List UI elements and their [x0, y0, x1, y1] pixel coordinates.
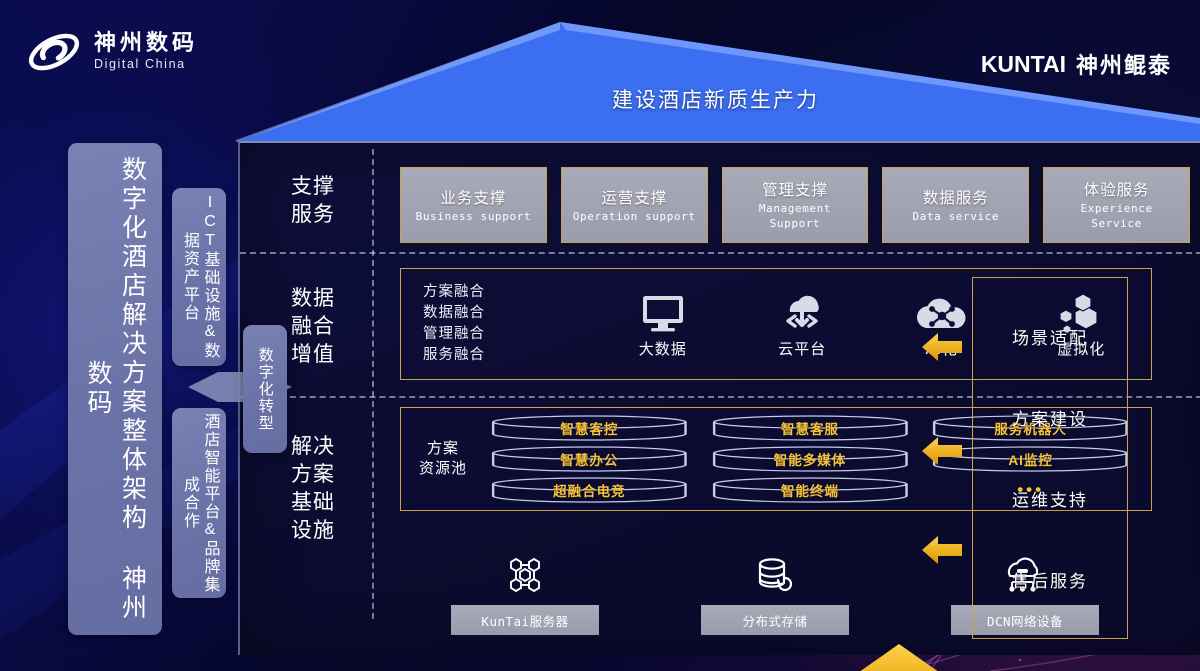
- swirl-logo-icon: [26, 26, 82, 78]
- monitor-icon: [639, 290, 687, 334]
- database-storage-icon: [754, 555, 796, 597]
- infrastructure-card[interactable]: 分布式存储: [701, 605, 849, 635]
- support-card[interactable]: 运营支撑 Operation support: [561, 167, 708, 243]
- row-label-support: 支撑 服务: [258, 173, 368, 229]
- ict-panel[interactable]: ICT基础设施&数据资产平台: [172, 188, 226, 366]
- infrastructure-card[interactable]: KunTai服务器: [451, 605, 599, 635]
- service-item[interactable]: 售后服务: [1012, 567, 1088, 592]
- roof-title: 建设酒店新质生产力: [612, 84, 819, 114]
- support-card-cn: 体验服务: [1084, 178, 1150, 200]
- resource-pool-item[interactable]: 智慧办公: [487, 445, 692, 473]
- support-card-en: Operation support: [573, 210, 696, 225]
- support-card-en: Data service: [912, 210, 999, 225]
- support-card-cn: 运营支撑: [601, 186, 667, 208]
- digital-china-logo: 神州数码 Digital China: [26, 26, 198, 78]
- resource-pool-item[interactable]: 智慧客控: [487, 414, 692, 442]
- fusion-list-item: 服务融合: [423, 346, 593, 365]
- server-cluster-icon: [503, 555, 547, 597]
- fusion-list: 方案融合 数据融合 管理融合 服务融合: [401, 283, 593, 366]
- cloud-arrows-icon: [776, 290, 828, 334]
- infrastructure-item[interactable]: KunTai服务器: [400, 539, 650, 635]
- up-arrow-icon: [842, 644, 956, 671]
- left-arrow-icon-1: [922, 332, 962, 362]
- support-card-cn: 业务支撑: [440, 186, 506, 208]
- fusion-icon-label: 大数据: [639, 338, 687, 359]
- fusion-icon-item[interactable]: 云平台: [752, 290, 852, 359]
- roof-shape: [236, 22, 1200, 142]
- support-card[interactable]: 数据服务 Data service: [882, 167, 1029, 243]
- fusion-list-item: 管理融合: [423, 325, 593, 344]
- fusion-list-item: 数据融合: [423, 304, 593, 323]
- resource-pool-item[interactable]: 智能多媒体: [708, 445, 913, 473]
- resource-pool-item[interactable]: 智能终端: [708, 476, 913, 504]
- service-item[interactable]: 方案建设: [1012, 405, 1088, 430]
- resource-pool-label: 方案 资源池: [401, 439, 485, 480]
- support-card[interactable]: 体验服务 ExperienceService: [1043, 167, 1190, 243]
- main-title-text: 数字化酒店解决方案整体架构 神州数码: [81, 143, 150, 635]
- logo-en-text: Digital China: [94, 55, 198, 74]
- fusion-list-item: 方案融合: [423, 283, 593, 302]
- hotel-platform-panel[interactable]: 酒店智能平台&品牌集成合作: [172, 408, 226, 598]
- service-list-panel: 场景适配 方案建设 运维支持 售后服务: [972, 277, 1128, 639]
- fusion-icon-label: 云平台: [778, 338, 826, 359]
- digital-transformation-text: 数字化转型: [255, 347, 275, 432]
- architecture-diagram-slide: 神州数码 Digital China KUNTAI 神州鲲泰 建设酒店新质生产力…: [0, 0, 1200, 671]
- support-card-en: ExperienceService: [1080, 202, 1152, 232]
- support-card-en: ManagementSupport: [759, 202, 831, 232]
- support-card[interactable]: 业务支撑 Business support: [400, 167, 547, 243]
- support-card-cn: 管理支撑: [762, 178, 828, 200]
- row-divider-1: [240, 252, 1200, 254]
- fusion-icon-item[interactable]: 大数据: [613, 290, 713, 359]
- main-title-panel: 数字化酒店解决方案整体架构 神州数码: [68, 143, 162, 635]
- ict-panel-text: ICT基础设施&数据资产平台: [179, 188, 220, 366]
- support-cards-row: 业务支撑 Business support 运营支撑 Operation sup…: [400, 167, 1190, 243]
- infrastructure-item[interactable]: 分布式存储: [650, 539, 900, 635]
- hotel-platform-text: 酒店智能平台&品牌集成合作: [179, 408, 220, 598]
- resource-pool-item[interactable]: 超融合电竞: [487, 476, 692, 504]
- service-item[interactable]: 场景适配: [1012, 324, 1088, 349]
- cloud-ai-network-icon: [916, 290, 968, 334]
- left-arrow-icon-3: [922, 535, 962, 565]
- support-card[interactable]: 管理支撑 ManagementSupport: [722, 167, 869, 243]
- resource-pool-item[interactable]: 智慧客服: [708, 414, 913, 442]
- support-card-en: Business support: [416, 210, 532, 225]
- vertical-divider: [372, 149, 374, 619]
- digital-transformation-panel[interactable]: 数字化转型: [243, 325, 287, 453]
- logo-cn-text: 神州数码: [94, 31, 198, 55]
- support-card-cn: 数据服务: [923, 186, 989, 208]
- left-arrow-icon-2: [922, 436, 962, 466]
- service-item[interactable]: 运维支持: [1012, 486, 1088, 511]
